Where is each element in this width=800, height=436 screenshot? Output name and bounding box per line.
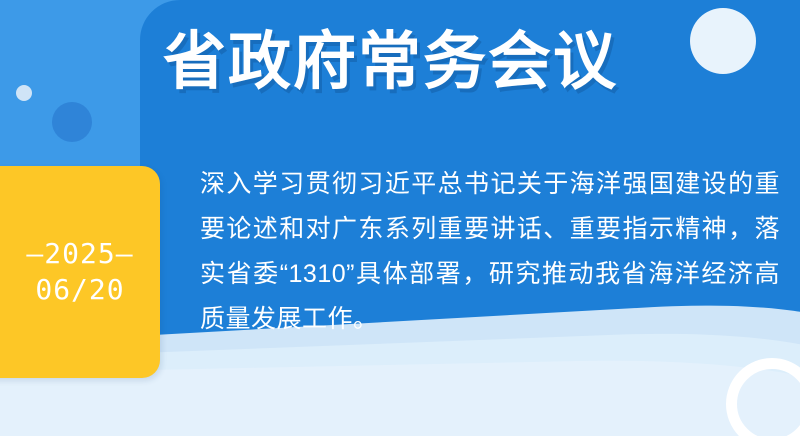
date-day-label: 06/20: [35, 272, 124, 308]
decorative-circle-icon: [690, 8, 756, 74]
page-title: 省政府常务会议: [163, 22, 618, 102]
decorative-dot-large-icon: [52, 102, 92, 142]
decorative-dot-small-icon: [16, 85, 32, 101]
meeting-announcement-poster: 省政府常务会议 深入学习贯彻习近平总书记关于海洋强国建设的重要论述和对广东系列重…: [0, 0, 800, 436]
date-card: —2025— 06/20: [0, 166, 160, 378]
date-card-content: —2025— 06/20: [0, 166, 160, 378]
meeting-summary-text: 深入学习贯彻习近平总书记关于海洋强国建设的重要论述和对广东系列重要讲话、重要指示…: [200, 162, 780, 342]
date-year-label: —2025—: [26, 236, 133, 272]
